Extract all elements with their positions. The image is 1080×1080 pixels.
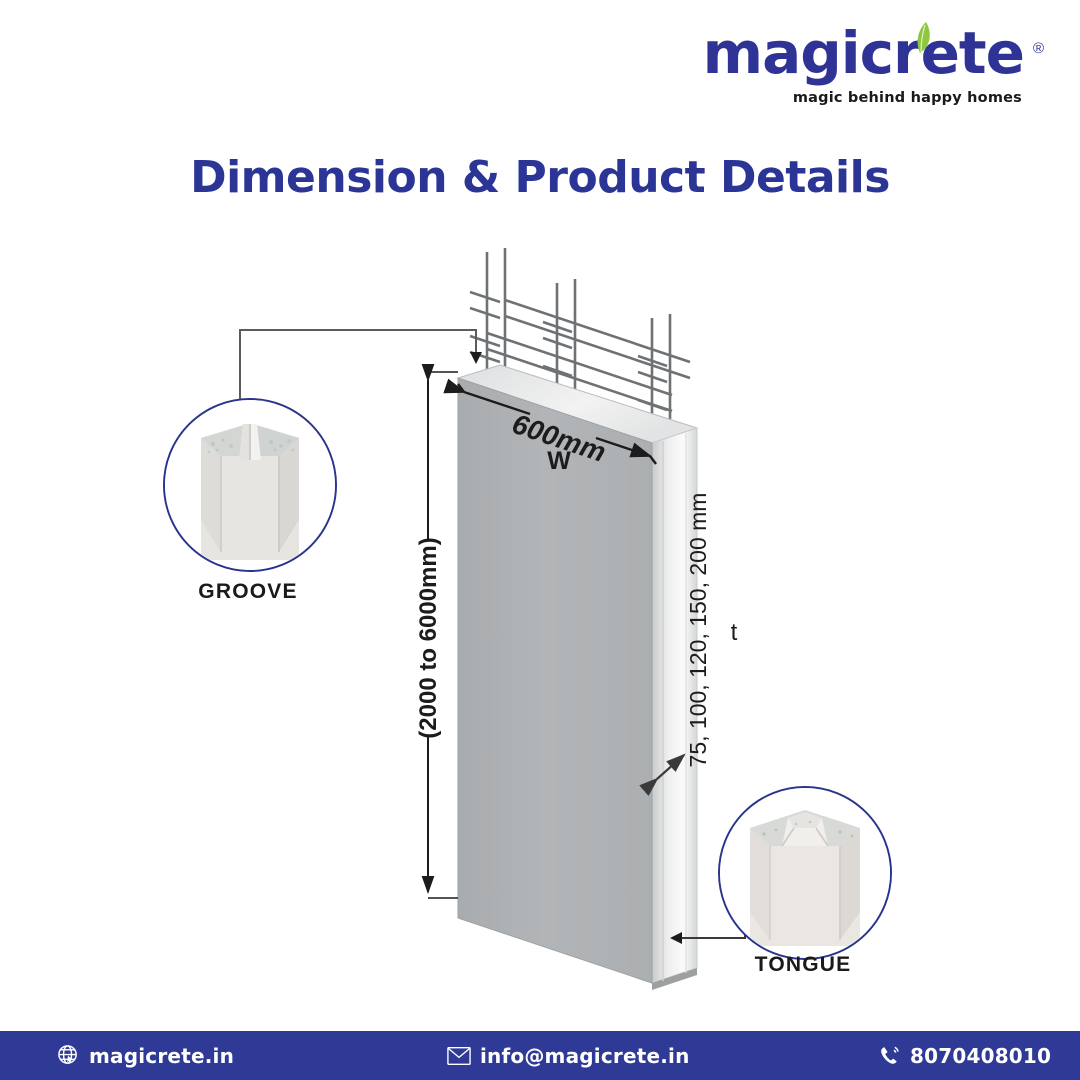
footer-website[interactable]: magicrete.in bbox=[57, 1044, 234, 1068]
globe-icon bbox=[57, 1044, 80, 1067]
width-symbol: W bbox=[547, 447, 571, 475]
footer-website-text: magicrete.in bbox=[89, 1044, 234, 1068]
phone-icon bbox=[878, 1044, 901, 1067]
height-dimension: (2000 to 6000mm) bbox=[415, 372, 458, 898]
product-diagram: 600mm W (2000 to 6000mm) 75, 100, 120, 1… bbox=[0, 0, 1080, 1080]
tongue-label: TONGUE bbox=[718, 953, 888, 977]
tongue-callout bbox=[718, 786, 892, 960]
envelope-icon bbox=[447, 1046, 471, 1066]
diagram-canvas: 600mm W (2000 to 6000mm) 75, 100, 120, 1… bbox=[0, 0, 1080, 1080]
footer-email[interactable]: info@magicrete.in bbox=[447, 1044, 690, 1068]
groove-label: GROOVE bbox=[163, 580, 333, 604]
tongue-photo bbox=[720, 788, 890, 958]
footer-bar: magicrete.in info@magicrete.in 807040801… bbox=[0, 1031, 1080, 1080]
groove-callout bbox=[163, 398, 337, 572]
groove-leader-line bbox=[240, 330, 482, 400]
footer-phone-text: 8070408010 bbox=[910, 1044, 1051, 1068]
thickness-symbol: t bbox=[731, 619, 738, 646]
thickness-values: 75, 100, 120, 150, 200 mm bbox=[685, 493, 711, 768]
footer-phone[interactable]: 8070408010 bbox=[878, 1044, 1051, 1068]
groove-photo bbox=[165, 400, 335, 570]
height-value: (2000 to 6000mm) bbox=[415, 537, 442, 738]
footer-email-text: info@magicrete.in bbox=[480, 1044, 690, 1068]
